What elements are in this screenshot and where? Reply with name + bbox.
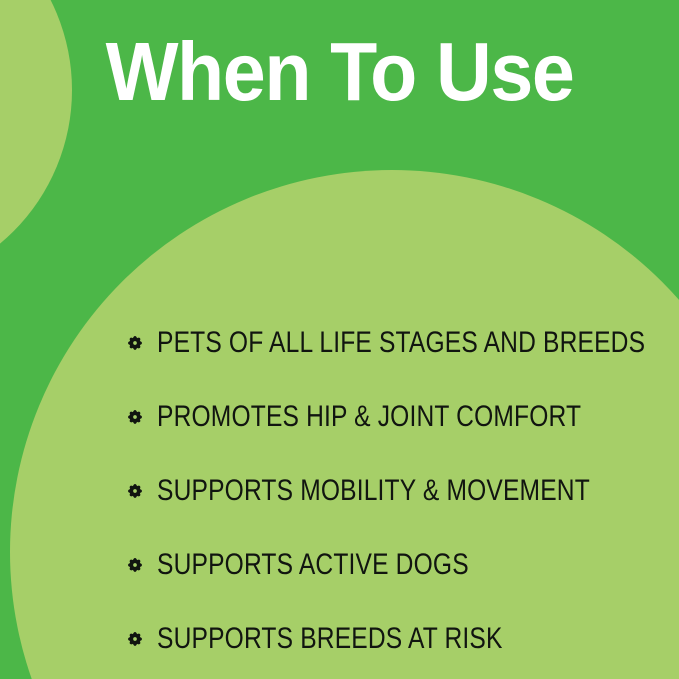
list-item-label: SUPPORTS MOBILITY & MOVEMENT bbox=[157, 475, 590, 507]
list-item: SUPPORTS ACTIVE DOGS bbox=[124, 528, 664, 602]
page-title: When To Use bbox=[24, 24, 655, 119]
asterisk-floret-icon bbox=[124, 406, 146, 428]
list-item-label: PETS OF ALL LIFE STAGES AND BREEDS bbox=[157, 327, 645, 359]
asterisk-floret-icon bbox=[124, 554, 146, 576]
when-to-use-poster: When To Use PETS OF ALL LIFE STAGES AND … bbox=[0, 0, 679, 679]
benefits-list: PETS OF ALL LIFE STAGES AND BREEDS PROMO… bbox=[124, 306, 664, 676]
list-item: PROMOTES HIP & JOINT COMFORT bbox=[124, 380, 664, 454]
list-item-label: SUPPORTS BREEDS AT RISK bbox=[157, 623, 573, 655]
asterisk-floret-icon bbox=[124, 332, 146, 354]
asterisk-floret-icon bbox=[124, 628, 146, 650]
list-item: SUPPORTS BREEDS AT RISK bbox=[124, 602, 664, 676]
list-item-label: SUPPORTS ACTIVE DOGS bbox=[157, 549, 573, 581]
asterisk-floret-icon bbox=[124, 480, 146, 502]
list-item: PETS OF ALL LIFE STAGES AND BREEDS bbox=[124, 306, 664, 380]
list-item: SUPPORTS MOBILITY & MOVEMENT bbox=[124, 454, 664, 528]
list-item-label: PROMOTES HIP & JOINT COMFORT bbox=[157, 401, 581, 433]
